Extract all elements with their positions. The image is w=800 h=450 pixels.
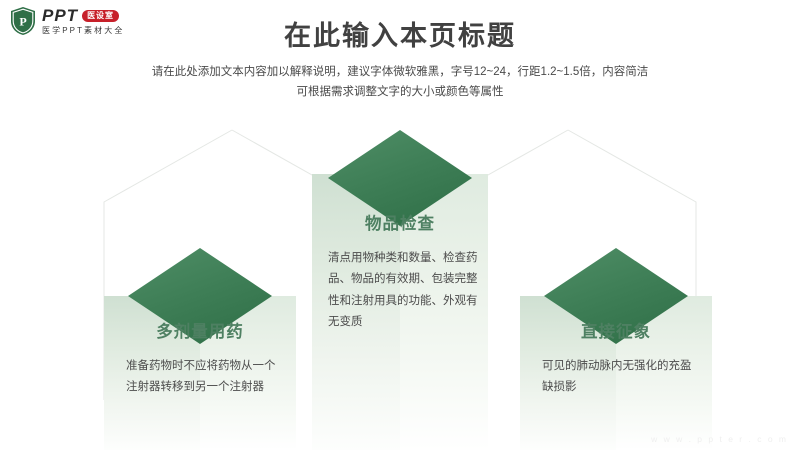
column-left-text: 多剂量用药 准备药物时不应将药物从一个注射器转移到另一个注射器 (104, 318, 296, 399)
column-right-text: 直接征象 可见的肺动脉内无强化的充盈缺损影 (520, 318, 712, 399)
column-left-heading: 多剂量用药 (104, 318, 296, 342)
column-center[interactable]: 物品检查 清点用物种类和数量、检查药品、物品的有效期、包装完整性和注射用具的功能… (312, 130, 488, 450)
column-center-text: 物品检查 清点用物种类和数量、检查药品、物品的有效期、包装完整性和注射用具的功能… (312, 210, 488, 333)
column-right[interactable]: 直接征象 可见的肺动脉内无强化的充盈缺损影 (520, 248, 712, 450)
column-right-body: 可见的肺动脉内无强化的充盈缺损影 (542, 356, 698, 399)
column-right-heading: 直接征象 (520, 318, 712, 342)
column-left-body: 准备药物时不应将药物从一个注射器转移到另一个注射器 (126, 356, 280, 399)
column-center-heading: 物品检查 (312, 210, 488, 234)
column-left[interactable]: 多剂量用药 准备药物时不应将药物从一个注射器转移到另一个注射器 (104, 248, 296, 450)
column-center-body: 清点用物种类和数量、检查药品、物品的有效期、包装完整性和注射用具的功能、外观有无… (328, 248, 478, 333)
site-watermark: w w w . p p t e r . c o m (651, 434, 788, 444)
